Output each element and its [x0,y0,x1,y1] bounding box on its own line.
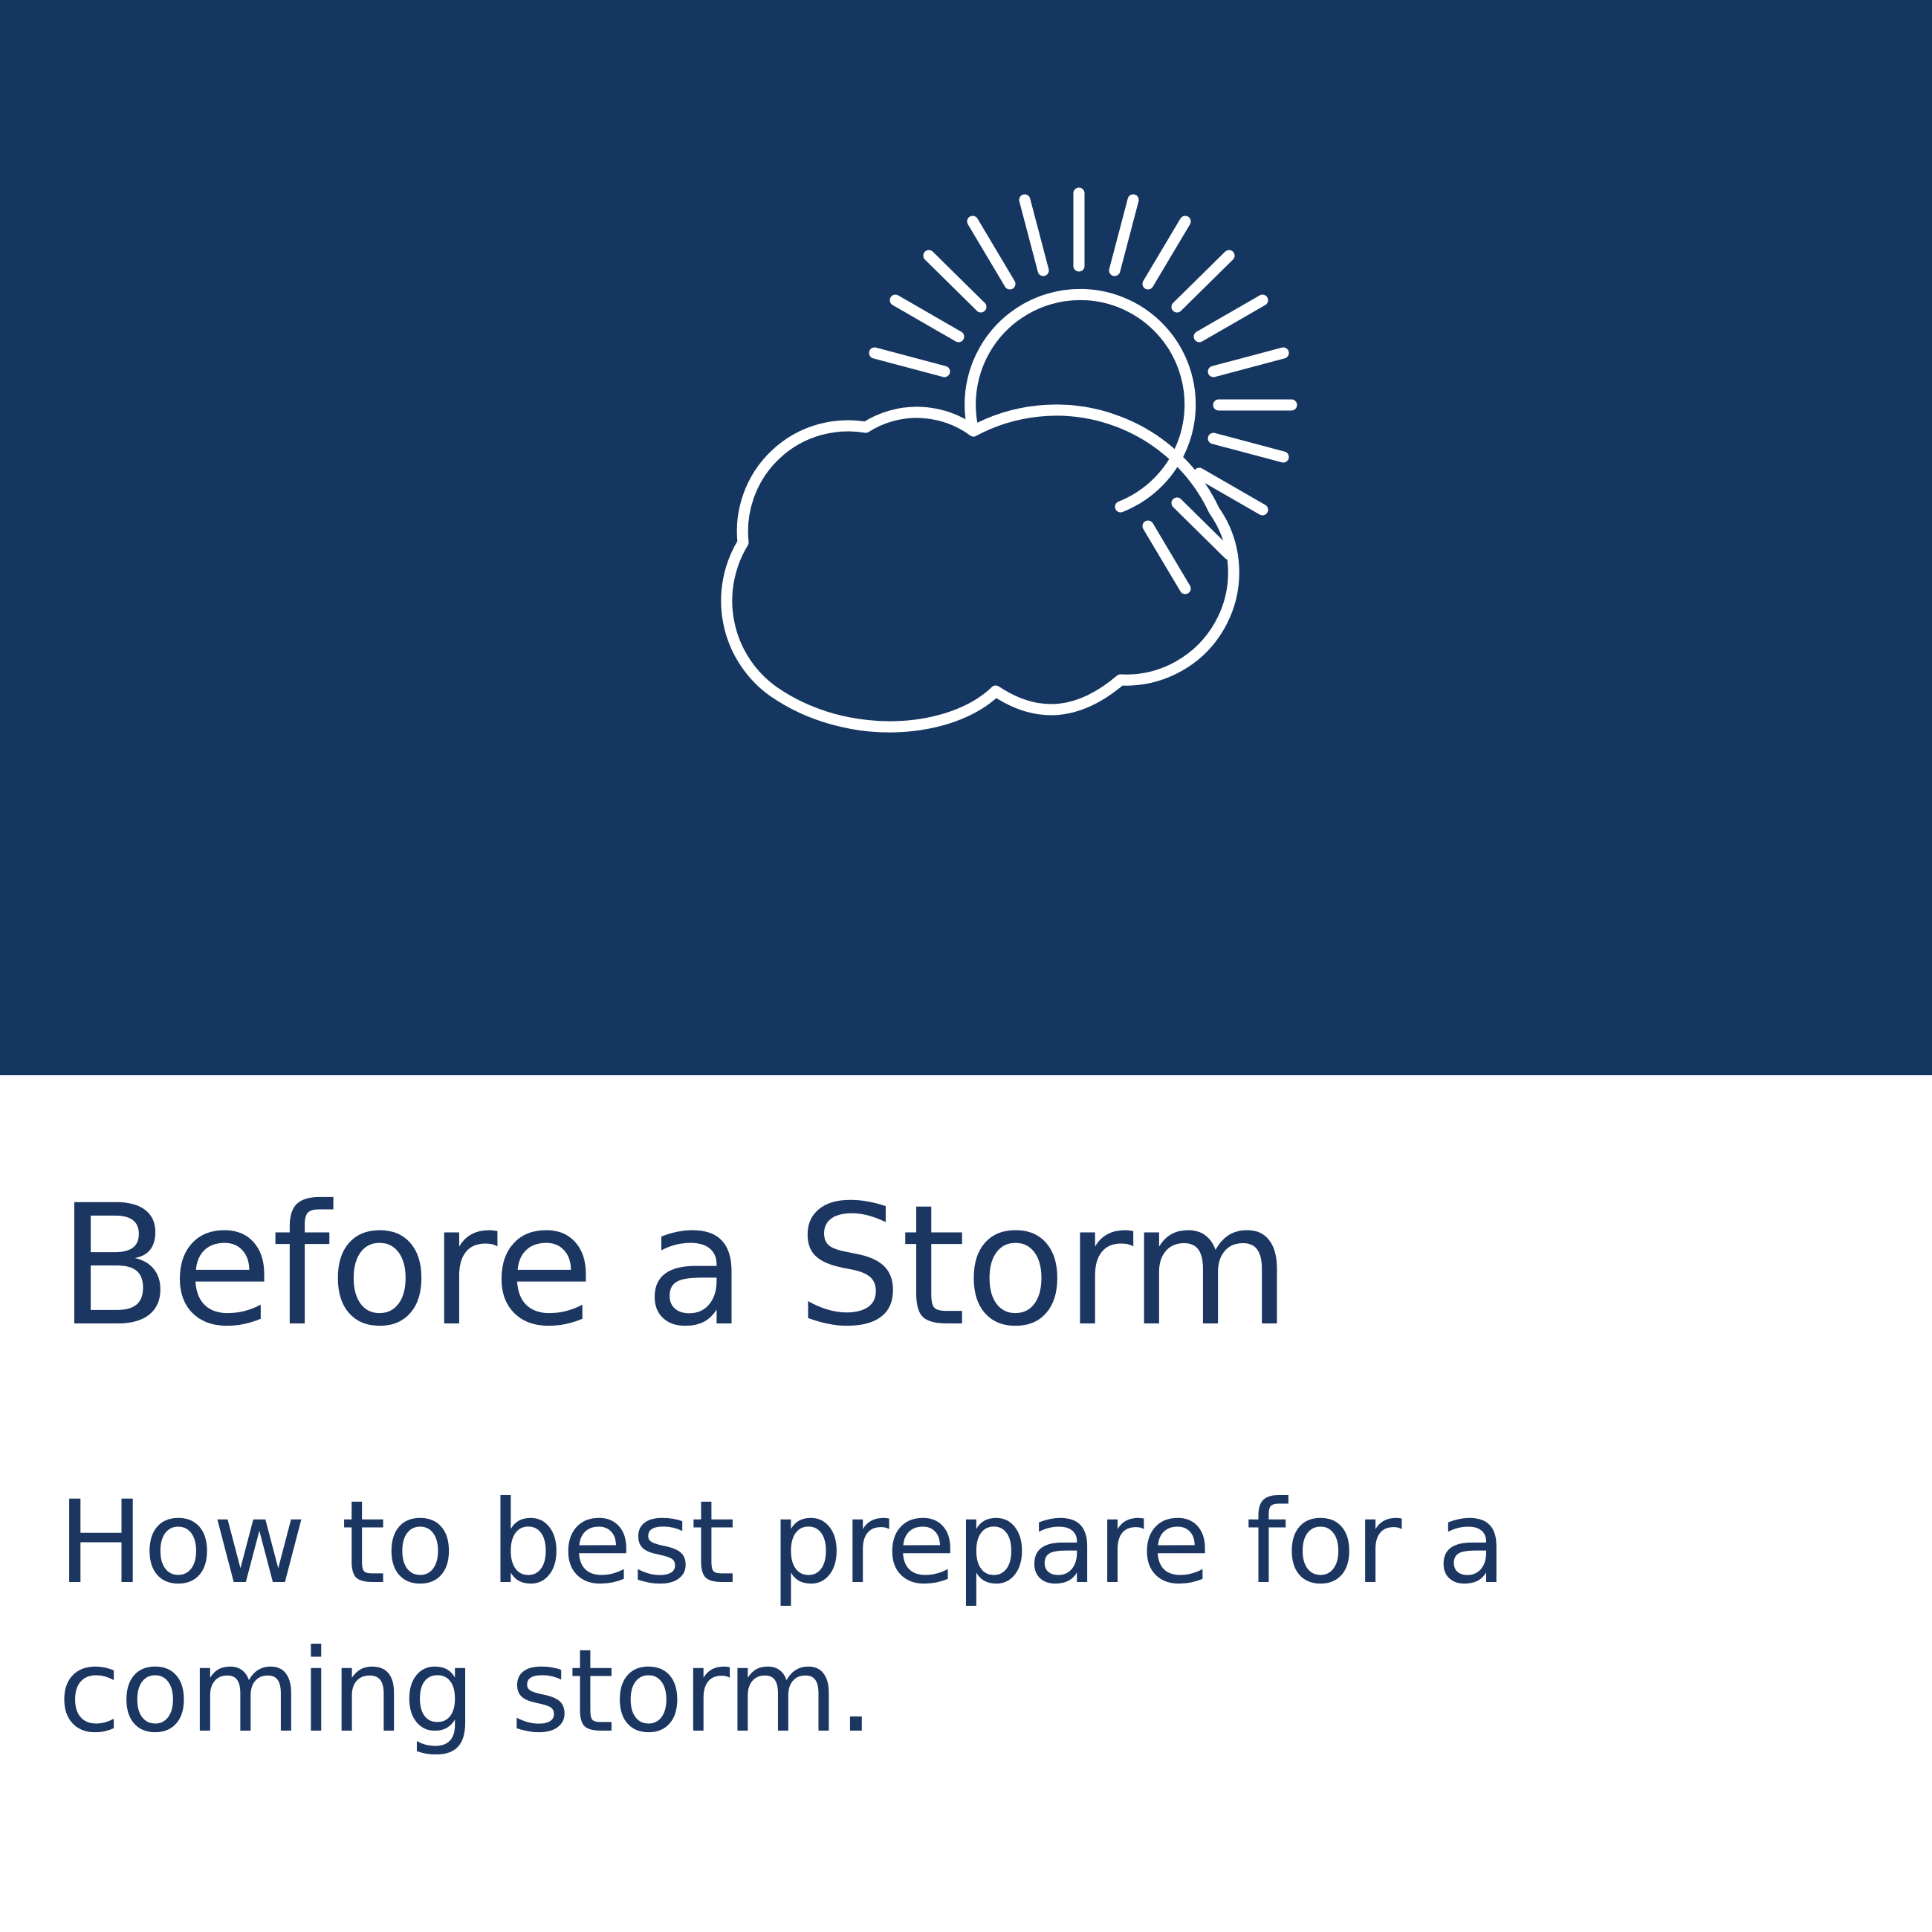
hero-icon-container [0,0,1932,1075]
sun-ray-icon [1213,438,1283,457]
sun-ray-icon [895,300,959,337]
sun-ray-icon [1177,256,1229,307]
sun-ray-icon [1199,300,1262,337]
sun-ray-icon [929,256,981,307]
sun-behind-cloud-icon [461,126,1338,869]
before-a-storm-card: Before a Storm How to best prepare for a… [0,0,1932,1932]
hero-banner [0,0,1932,1075]
sun-ray-icon [973,221,1010,284]
sun-ray-icon [1148,221,1185,284]
sun-ray-icon [1148,526,1185,589]
cloud-outline-icon [727,410,1234,727]
page-title: Before a Storm [58,1183,1289,1349]
sun-ray-icon [1025,200,1043,270]
sun-disc-icon [970,294,1190,507]
sun-ray-icon [1115,200,1133,270]
sun-ray-icon [875,353,944,372]
sun-ray-icon [1213,353,1283,372]
content-section: Before a Storm How to best prepare for a… [0,1075,1932,1932]
page-subtitle: How to best prepare for a coming storm. [58,1469,1544,1766]
